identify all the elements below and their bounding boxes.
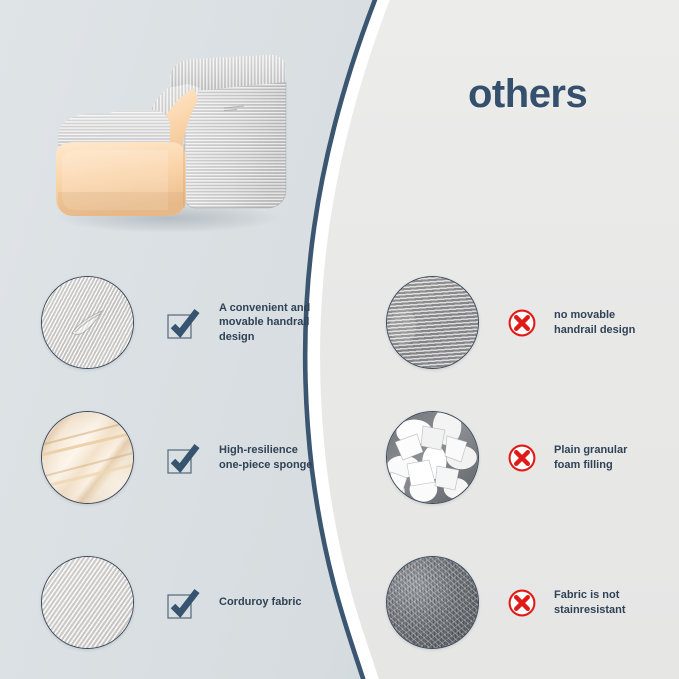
feature-row-others-2: Plain granular foam filling bbox=[386, 411, 627, 504]
feature-label: Corduroy fabric bbox=[219, 595, 302, 610]
granular-foam-thumb bbox=[386, 411, 479, 504]
feature-row-others-1: no movable handrail design bbox=[386, 276, 635, 369]
feature-row-ours-3: Corduroy fabric bbox=[41, 556, 302, 649]
check-box-icon bbox=[165, 585, 201, 621]
feature-label: A convenient and movable handrail design bbox=[219, 301, 310, 345]
page-title: others bbox=[468, 72, 587, 117]
feature-row-ours-2: High-resilience one-piece sponge bbox=[41, 411, 313, 504]
feature-label: no movable handrail design bbox=[554, 308, 635, 337]
stained-fleece-thumb bbox=[386, 556, 479, 649]
cross-circle-icon bbox=[507, 588, 537, 618]
feature-row-ours-1: A convenient and movable handrail design bbox=[41, 276, 310, 369]
sponge-layers-thumb bbox=[41, 411, 134, 504]
handrail-closeup-thumb bbox=[41, 276, 134, 369]
comparison-infographic: others A convenient and movable handrail… bbox=[0, 0, 679, 679]
hero-product-image bbox=[18, 22, 318, 237]
feature-label: Plain granular foam filling bbox=[554, 443, 627, 472]
cross-circle-icon bbox=[507, 308, 537, 338]
corduroy-fabric-thumb bbox=[41, 556, 134, 649]
cross-circle-icon bbox=[507, 443, 537, 473]
feature-row-others-3: Fabric is not stainresistant bbox=[386, 556, 626, 649]
plain-grey-fabric-thumb bbox=[386, 276, 479, 369]
feature-label: Fabric is not stainresistant bbox=[554, 588, 626, 617]
feature-label: High-resilience one-piece sponge bbox=[219, 443, 313, 472]
check-box-icon bbox=[165, 440, 201, 476]
check-box-icon bbox=[165, 305, 201, 341]
